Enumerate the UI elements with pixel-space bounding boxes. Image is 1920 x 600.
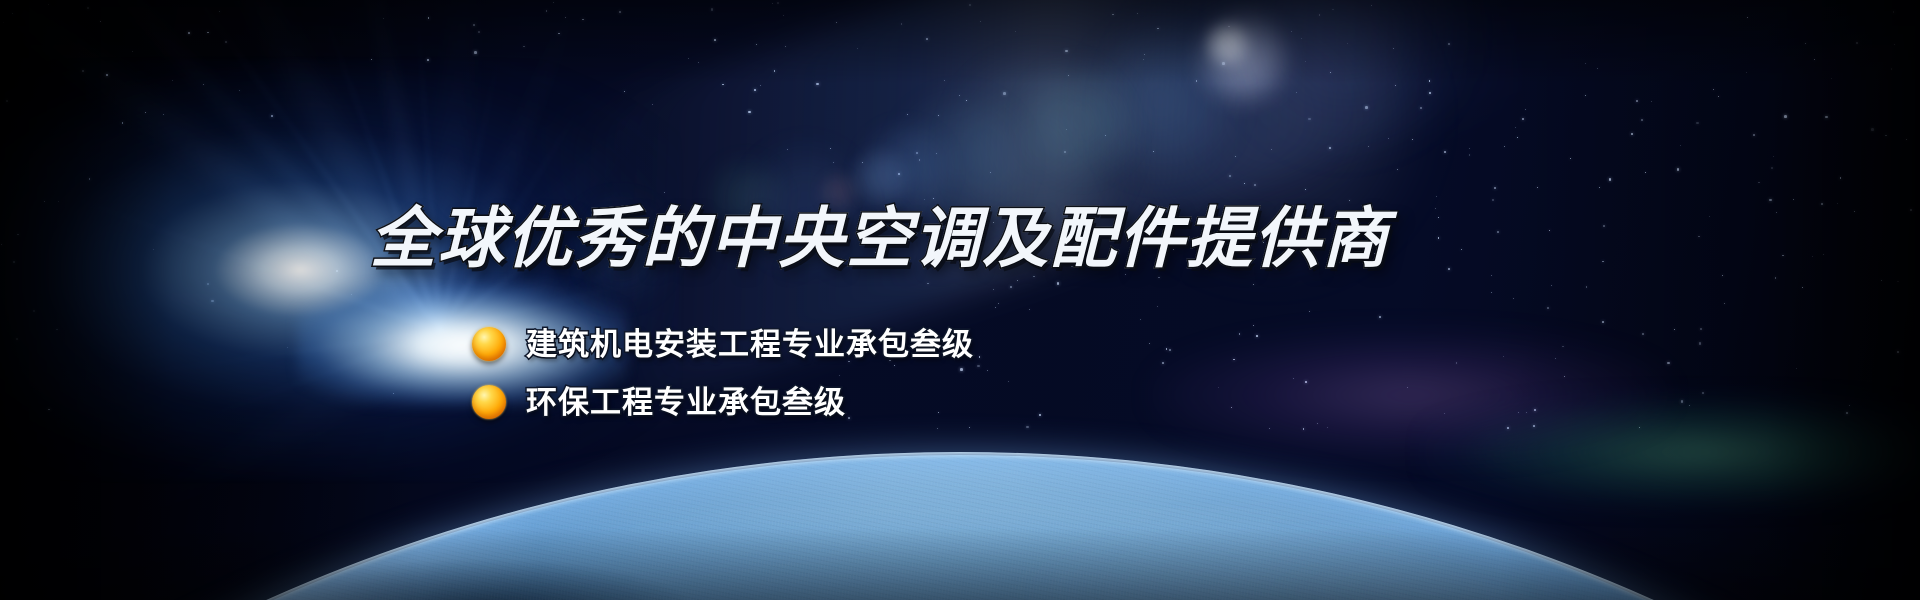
hero-banner: 全球优秀的中央空调及配件提供商 建筑机电安装工程专业承包叁级 环保工程专业承包叁… <box>0 0 1920 600</box>
orange-dot-icon <box>472 385 506 419</box>
banner-content: 全球优秀的中央空调及配件提供商 建筑机电安装工程专业承包叁级 环保工程专业承包叁… <box>0 0 1920 600</box>
qualification-item-label: 环保工程专业承包叁级 <box>526 387 846 418</box>
qualification-item: 建筑机电安装工程专业承包叁级 <box>472 315 974 373</box>
qualification-item: 环保工程专业承包叁级 <box>472 373 974 431</box>
qualification-list: 建筑机电安装工程专业承包叁级 环保工程专业承包叁级 <box>472 315 974 431</box>
orange-dot-icon <box>472 327 506 361</box>
banner-headline: 全球优秀的中央空调及配件提供商 <box>370 205 1390 271</box>
qualification-item-label: 建筑机电安装工程专业承包叁级 <box>526 329 974 360</box>
